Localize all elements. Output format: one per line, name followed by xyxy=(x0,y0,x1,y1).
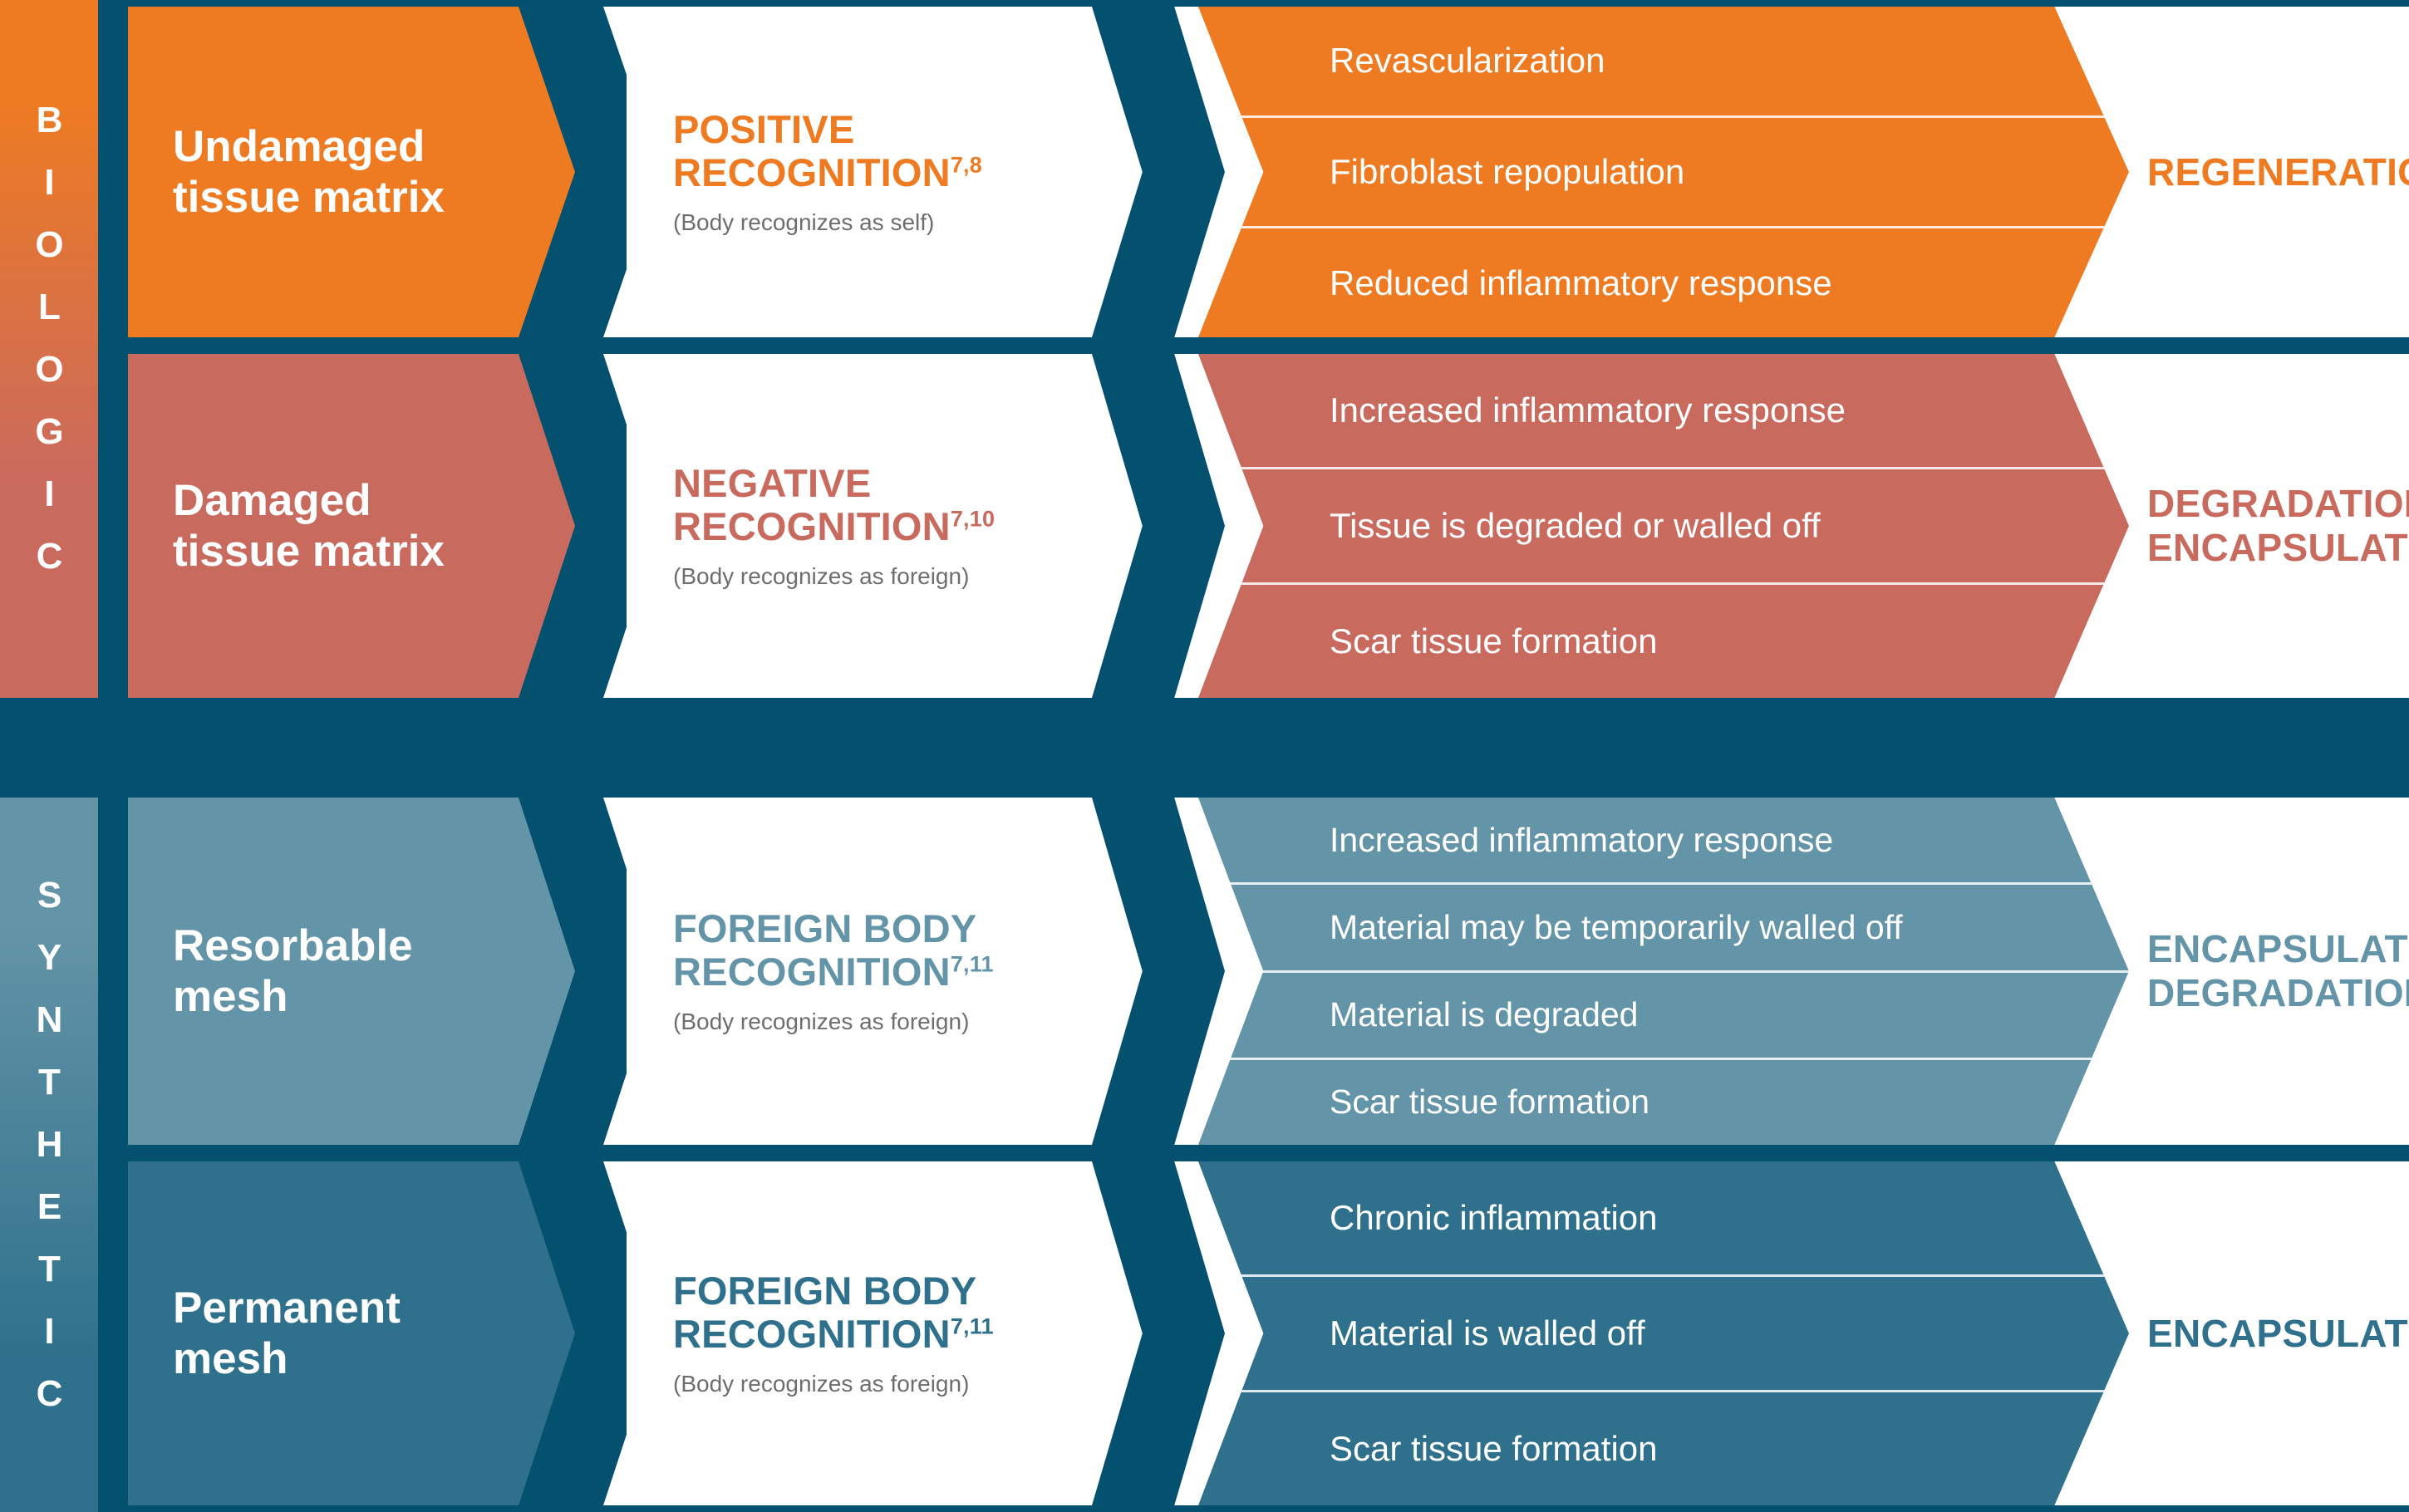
frame-band-biologic-synthetic xyxy=(0,698,2409,798)
recognition-block[interactable]: NEGATIVE RECOGNITION7,10 (Body recognize… xyxy=(627,354,1142,698)
list-item: Material is degraded xyxy=(1198,970,2129,1058)
result-label: REGENERATION xyxy=(2147,150,2409,194)
frame-rail-synthetic xyxy=(98,798,128,1512)
recognition-block[interactable]: POSITIVE RECOGNITION7,8 (Body recognizes… xyxy=(627,7,1142,337)
category-label-synthetic: SYNTHETIC xyxy=(31,875,67,1436)
list-item: Scar tissue formation xyxy=(1198,582,2129,698)
reference-superscript: 7,11 xyxy=(951,1313,994,1338)
reference-superscript: 7,8 xyxy=(951,152,982,177)
recognition-subtitle: (Body recognizes as self) xyxy=(673,209,1117,236)
list-item: Material may be temporarily walled off xyxy=(1198,882,2129,970)
list-item: Scar tissue formation xyxy=(1198,1390,2129,1505)
material-block[interactable]: Damaged tissue matrix xyxy=(128,354,593,698)
frame-band-bottom xyxy=(0,1505,2409,1512)
outcome-list: Revascularization Fibroblast repopulatio… xyxy=(1198,7,2129,337)
category-spine-synthetic: SYNTHETIC xyxy=(0,798,98,1512)
list-item: Increased inflammatory response xyxy=(1198,798,2129,882)
list-item: Chronic inflammation xyxy=(1198,1161,2129,1274)
recognition-subtitle: (Body recognizes as foreign) xyxy=(673,1371,1117,1397)
material-label: Undamaged tissue matrix xyxy=(173,121,445,223)
frame-band-row3-row4 xyxy=(128,1145,2409,1161)
frame-band-top xyxy=(0,0,2409,7)
infographic-canvas: BIOLOGIC SYNTHETIC Undamaged tissue matr… xyxy=(0,0,2409,1512)
list-item: Tissue is degraded or walled off xyxy=(1198,467,2129,582)
reference-superscript: 7,11 xyxy=(951,951,994,976)
list-item: Increased inflammatory response xyxy=(1198,354,2129,467)
result-label: ENCAPSULATION xyxy=(2147,1312,2409,1356)
material-block[interactable]: Permanent mesh xyxy=(128,1161,593,1505)
recognition-block[interactable]: FOREIGN BODY RECOGNITION7,11 (Body recog… xyxy=(627,798,1142,1145)
list-item: Scar tissue formation xyxy=(1198,1058,2129,1145)
frame-band-row1-row2 xyxy=(128,337,2409,354)
result-block: ENCAPSULATION DEGRADATION xyxy=(2147,798,2409,1145)
recognition-title: NEGATIVE RECOGNITION7,10 xyxy=(673,462,1117,547)
pathway-row-undamaged-tissue-matrix: Undamaged tissue matrix POSITIVE RECOGNI… xyxy=(128,7,2409,337)
list-item: Reduced inflammatory response xyxy=(1198,226,2129,337)
result-label: ENCAPSULATION DEGRADATION xyxy=(2147,927,2409,1015)
list-item: Fibroblast repopulation xyxy=(1198,115,2129,227)
recognition-title: POSITIVE RECOGNITION7,8 xyxy=(673,108,1117,194)
recognition-title: FOREIGN BODY RECOGNITION7,11 xyxy=(673,907,1117,993)
material-label: Damaged tissue matrix xyxy=(173,475,445,577)
outcome-list: Increased inflammatory response Material… xyxy=(1198,798,2129,1145)
list-item: Revascularization xyxy=(1198,7,2129,115)
outcome-list: Increased inflammatory response Tissue i… xyxy=(1198,354,2129,698)
material-label: Resorbable mesh xyxy=(173,920,413,1023)
recognition-subtitle: (Body recognizes as foreign) xyxy=(673,1009,1117,1035)
pathway-row-damaged-tissue-matrix: Damaged tissue matrix NEGATIVE RECOGNITI… xyxy=(128,354,2409,698)
material-block[interactable]: Undamaged tissue matrix xyxy=(128,7,593,337)
pathway-row-permanent-mesh: Permanent mesh FOREIGN BODY RECOGNITION7… xyxy=(128,1161,2409,1505)
result-block: DEGRADATION ENCAPSULATION xyxy=(2147,354,2409,698)
result-label: DEGRADATION ENCAPSULATION xyxy=(2147,482,2409,570)
recognition-subtitle: (Body recognizes as foreign) xyxy=(673,563,1117,590)
recognition-title: FOREIGN BODY RECOGNITION7,11 xyxy=(673,1269,1117,1355)
recognition-block[interactable]: FOREIGN BODY RECOGNITION7,11 (Body recog… xyxy=(627,1161,1142,1505)
result-block: REGENERATION xyxy=(2147,7,2409,337)
list-item: Material is walled off xyxy=(1198,1274,2129,1390)
outcome-list: Chronic inflammation Material is walled … xyxy=(1198,1161,2129,1505)
reference-superscript: 7,10 xyxy=(951,506,995,531)
material-label: Permanent mesh xyxy=(173,1283,401,1385)
category-spine-biologic: BIOLOGIC xyxy=(0,0,98,698)
category-label-biologic: BIOLOGIC xyxy=(31,100,67,598)
frame-rail-biologic xyxy=(98,0,128,714)
pathway-row-resorbable-mesh: Resorbable mesh FOREIGN BODY RECOGNITION… xyxy=(128,798,2409,1145)
material-block[interactable]: Resorbable mesh xyxy=(128,798,593,1145)
result-block: ENCAPSULATION xyxy=(2147,1161,2409,1505)
